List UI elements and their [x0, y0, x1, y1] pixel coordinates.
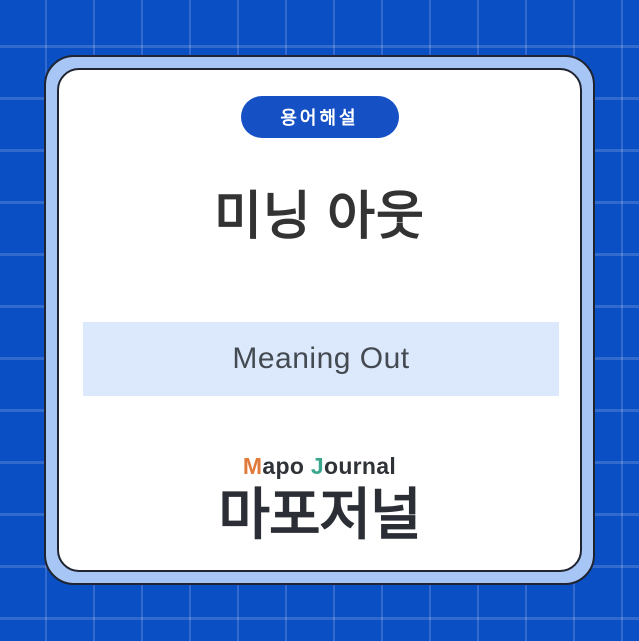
brand-logo-latin: Mapo Journal	[59, 455, 580, 478]
brand-logo-space	[304, 453, 311, 479]
brand-logo-mapo-tail: apo	[262, 453, 304, 479]
category-badge[interactable]: 용어해설	[241, 96, 399, 138]
term-translation-band: Meaning Out	[83, 322, 559, 396]
brand-logo-hangul: 마포저널	[59, 484, 580, 546]
poster-canvas: 용어해설 미닝 아웃 Meaning Out Mapo Journal 마포저널	[0, 0, 639, 641]
term-title-korean: 미닝 아웃	[59, 188, 580, 248]
brand-logo: Mapo Journal 마포저널	[59, 455, 580, 546]
brand-logo-letter-j: J	[311, 453, 324, 479]
term-title-english: Meaning Out	[232, 342, 409, 376]
content-card: 용어해설 미닝 아웃 Meaning Out Mapo Journal 마포저널	[57, 68, 582, 572]
content-card-frame: 용어해설 미닝 아웃 Meaning Out Mapo Journal 마포저널	[44, 55, 595, 585]
brand-logo-journal-tail: ournal	[324, 453, 396, 479]
brand-logo-letter-m: M	[243, 453, 262, 479]
badge-row: 용어해설	[59, 96, 580, 138]
